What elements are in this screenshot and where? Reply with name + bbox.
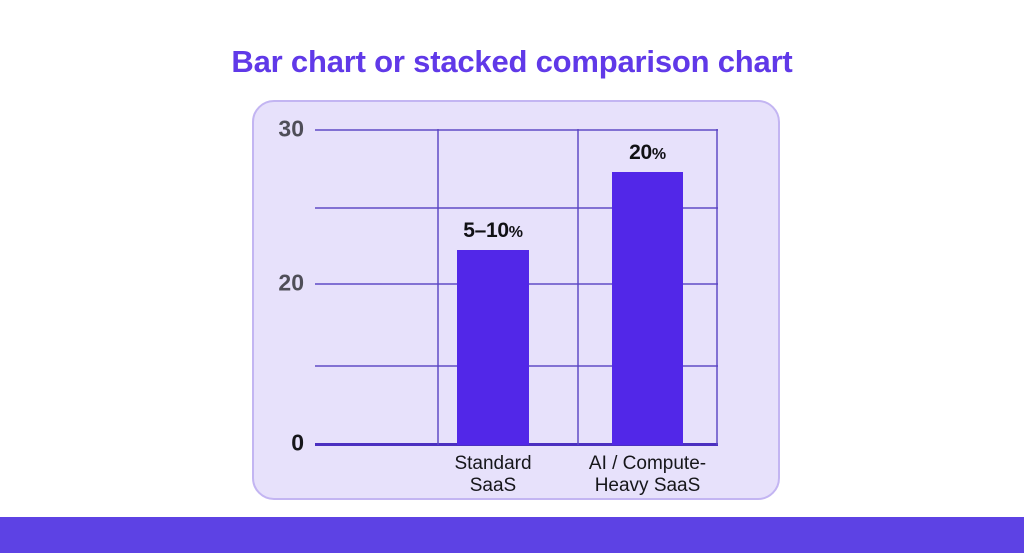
bar-standard-saas[interactable]: 5–10% Standard SaaS <box>457 250 529 445</box>
gridline-vertical-2 <box>577 129 579 445</box>
x-axis-label-line-2: Heavy SaaS <box>589 475 706 497</box>
x-axis-label-line-1: Standard <box>454 453 531 475</box>
bar-value-label-ai-compute-heavy-saas: 20% <box>629 141 666 165</box>
x-axis-label-standard-saas: Standard SaaS <box>454 453 531 498</box>
y-axis-tick-30: 30 <box>278 116 304 143</box>
footer-accent-band <box>0 517 1024 553</box>
bar-value-label-standard-saas: 5–10% <box>463 219 522 243</box>
chart-plot-area: 30 20 0 5–10% Standard SaaS 20% <box>315 129 718 445</box>
bar-value-percent-ai-compute-heavy-saas: % <box>652 146 666 163</box>
bar-value-number-standard-saas: 5–10 <box>463 219 509 242</box>
y-axis-tick-0: 0 <box>291 430 304 457</box>
gridline-vertical-3 <box>716 129 718 445</box>
y-axis-tick-20: 20 <box>278 270 304 297</box>
bar-ai-compute-heavy-saas[interactable]: 20% AI / Compute- Heavy SaaS <box>612 172 683 445</box>
bar-value-percent-standard-saas: % <box>509 224 523 241</box>
x-axis-label-line-1: AI / Compute- <box>589 453 706 475</box>
x-axis-label-ai-compute-heavy-saas: AI / Compute- Heavy SaaS <box>589 453 706 498</box>
chart-card: 30 20 0 5–10% Standard SaaS 20% <box>252 100 780 500</box>
gridline-horizontal-30: 30 <box>315 129 718 131</box>
page-title: Bar chart or stacked comparison chart <box>0 44 1024 80</box>
bar-value-number-ai-compute-heavy-saas: 20 <box>629 141 652 164</box>
gridline-vertical-1 <box>437 129 439 445</box>
x-axis-label-line-2: SaaS <box>454 475 531 497</box>
